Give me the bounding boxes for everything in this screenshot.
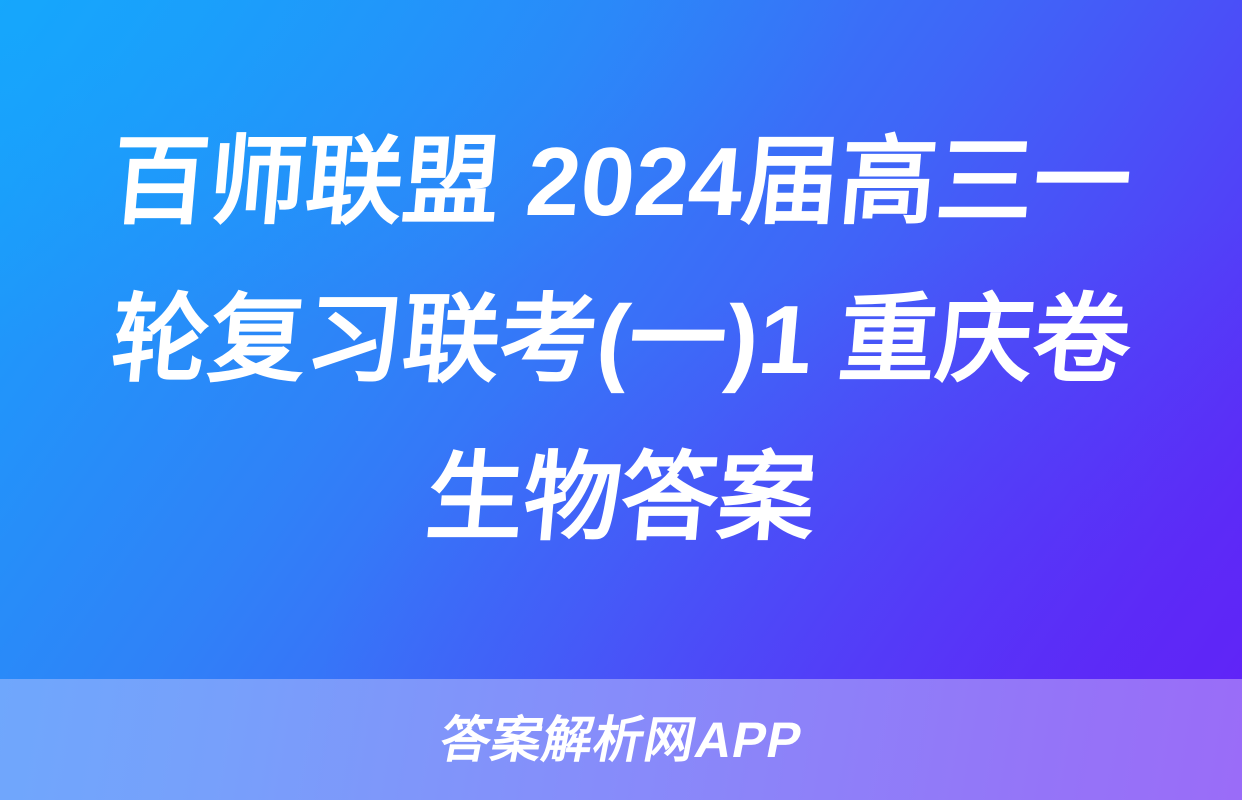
- app-watermark-label: 答案解析网APP: [436, 715, 807, 765]
- title-line-2: 轮复习联考(一)1 重庆卷: [105, 261, 1137, 419]
- title-line-3: 生物答案: [420, 419, 822, 577]
- title-line-1: 百师联盟 2024届高三一: [105, 103, 1138, 261]
- footer-watermark-band: 答案解析网APP: [0, 679, 1242, 800]
- poster-canvas: 百师联盟 2024届高三一 轮复习联考(一)1 重庆卷 生物答案 答案解析网AP…: [0, 0, 1242, 800]
- title-block: 百师联盟 2024届高三一 轮复习联考(一)1 重庆卷 生物答案: [0, 0, 1242, 679]
